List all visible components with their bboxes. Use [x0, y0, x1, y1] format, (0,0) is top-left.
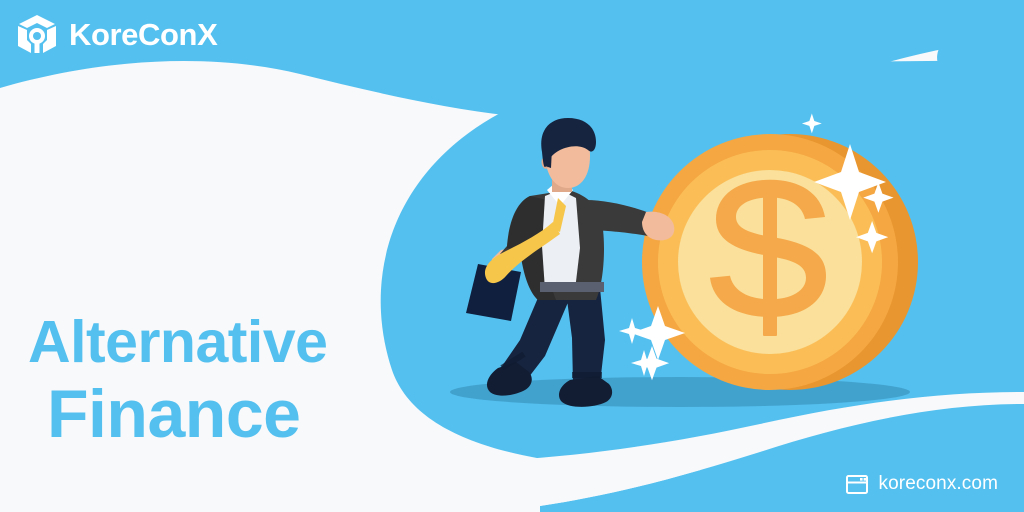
browser-window-icon: [846, 475, 868, 494]
belt: [540, 282, 604, 292]
sideburn: [545, 148, 552, 168]
trouser-cuff-front: [572, 372, 602, 378]
page-title: Alternative Finance: [28, 312, 327, 450]
site-url-text: koreconx.com: [879, 473, 998, 495]
logo-text: KoreConX: [69, 19, 217, 50]
site-url-block[interactable]: koreconx.com: [846, 473, 998, 495]
koreconx-cube-logo-icon: [14, 11, 60, 57]
gold-coin: [642, 134, 918, 390]
headline-line-2: Finance: [47, 379, 327, 450]
sparkle-small-top: [802, 114, 822, 134]
sparkle-coin-bottom: [635, 346, 669, 380]
logo-block[interactable]: KoreConX: [14, 11, 217, 57]
koreconx-alternative-finance-banner: KoreConX Alternative Finance koreconx.co…: [0, 0, 1024, 512]
headline-line-1: Alternative: [28, 312, 327, 373]
sparkle-small-bottom-left: [619, 318, 645, 344]
